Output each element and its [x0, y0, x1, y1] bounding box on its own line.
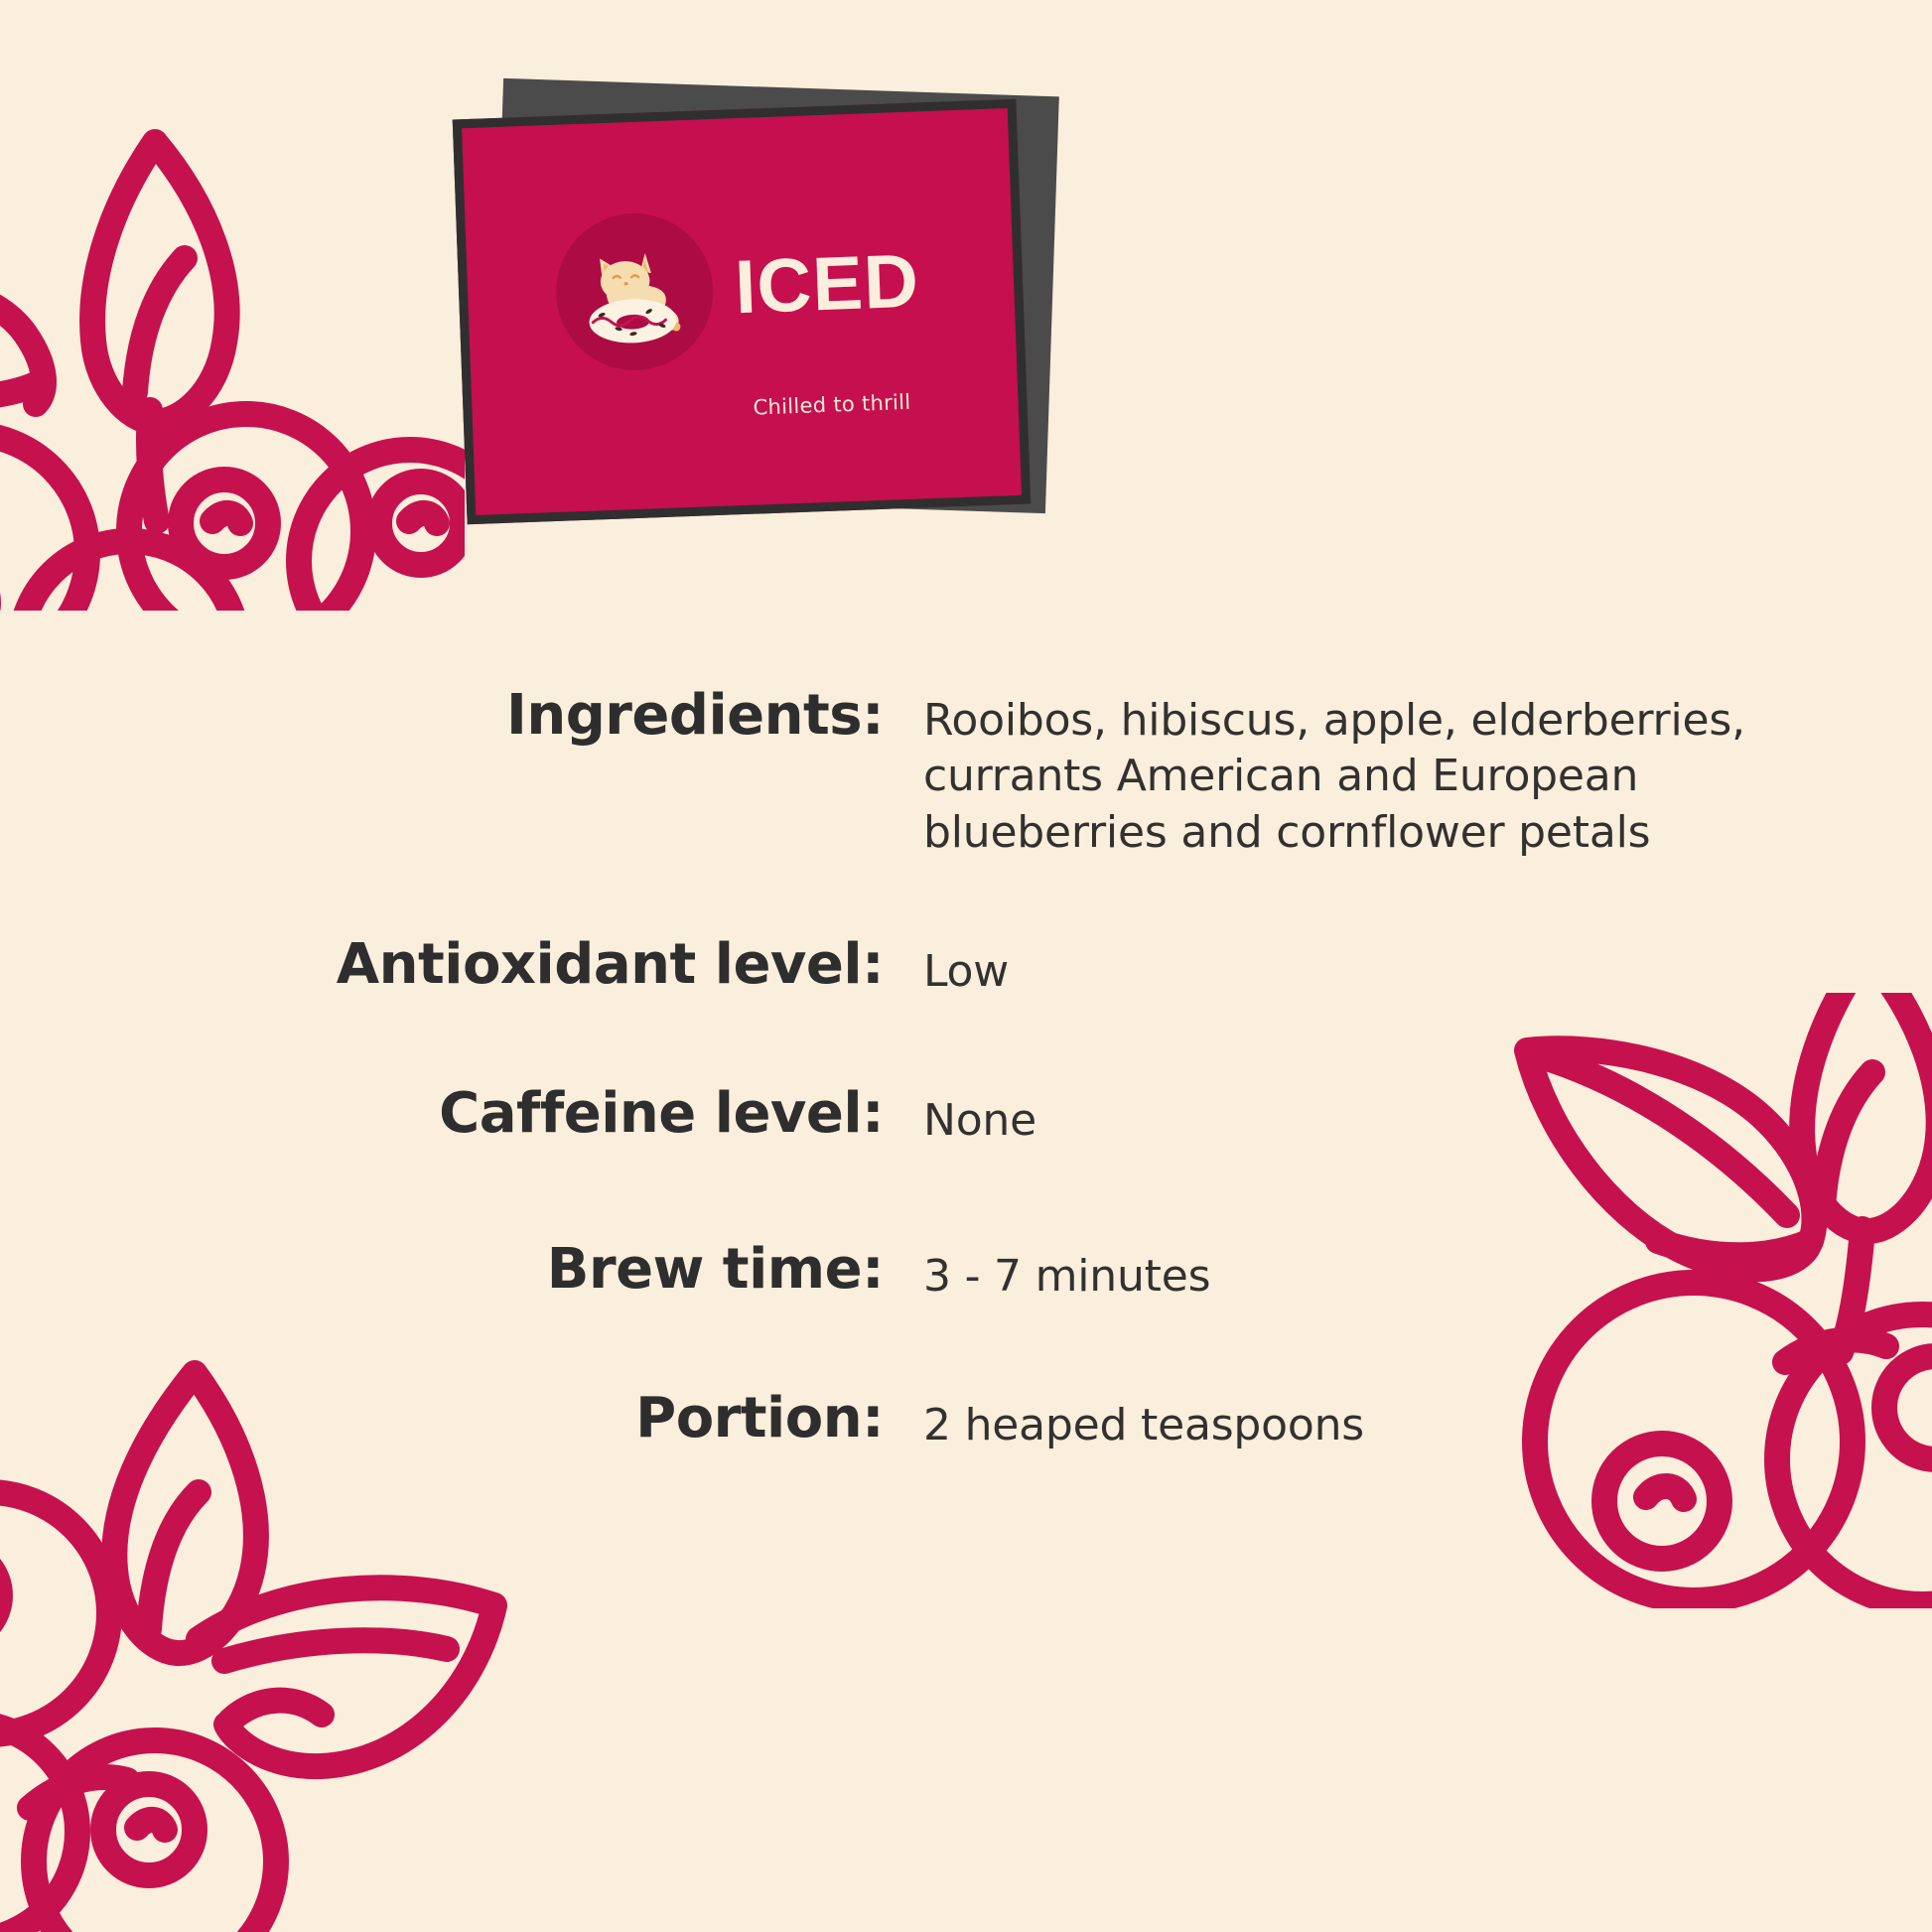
- brand-name: ICED: [734, 243, 920, 326]
- spec-label-antioxidant: Antioxidant level:: [0, 936, 923, 995]
- brand-tagline: Chilled to thrill: [753, 390, 911, 420]
- spec-value-ingredients: Rooibos, hibiscus, apple, elderberries, …: [923, 685, 1817, 861]
- berry-branch-top-left-decoration: [0, 94, 465, 611]
- spec-value-antioxidant: Low: [923, 936, 1817, 1000]
- spec-value-portion: 2 heaped teaspoons: [923, 1390, 1817, 1453]
- spec-value-caffeine: None: [923, 1085, 1817, 1149]
- card-content: ICED Chilled to thrill: [462, 108, 1022, 515]
- spec-label-portion: Portion:: [0, 1390, 923, 1449]
- product-card[interactable]: ICED Chilled to thrill: [453, 99, 1032, 525]
- brand-row: ICED: [554, 203, 922, 372]
- spec-row-antioxidant: Antioxidant level: Low: [0, 936, 1932, 1000]
- spec-value-brew-time: 3 - 7 minutes: [923, 1241, 1817, 1305]
- brand-logo-badge: [554, 210, 717, 373]
- poster-canvas: ICED Chilled to thrill Ingredients: Rooi…: [0, 0, 1932, 1932]
- spec-label-ingredients: Ingredients:: [0, 685, 923, 746]
- spec-row-brew-time: Brew time: 3 - 7 minutes: [0, 1241, 1932, 1305]
- spec-row-portion: Portion: 2 heaped teaspoons: [0, 1390, 1932, 1453]
- spec-row-ingredients: Ingredients: Rooibos, hibiscus, apple, e…: [0, 685, 1932, 861]
- product-spec-table: Ingredients: Rooibos, hibiscus, apple, e…: [0, 685, 1932, 1453]
- cat-on-donut-icon: [573, 235, 696, 348]
- spec-row-caffeine: Caffeine level: None: [0, 1085, 1932, 1149]
- spec-label-brew-time: Brew time:: [0, 1241, 923, 1300]
- spec-label-caffeine: Caffeine level:: [0, 1085, 923, 1144]
- product-card-stack: ICED Chilled to thrill: [452, 69, 1067, 546]
